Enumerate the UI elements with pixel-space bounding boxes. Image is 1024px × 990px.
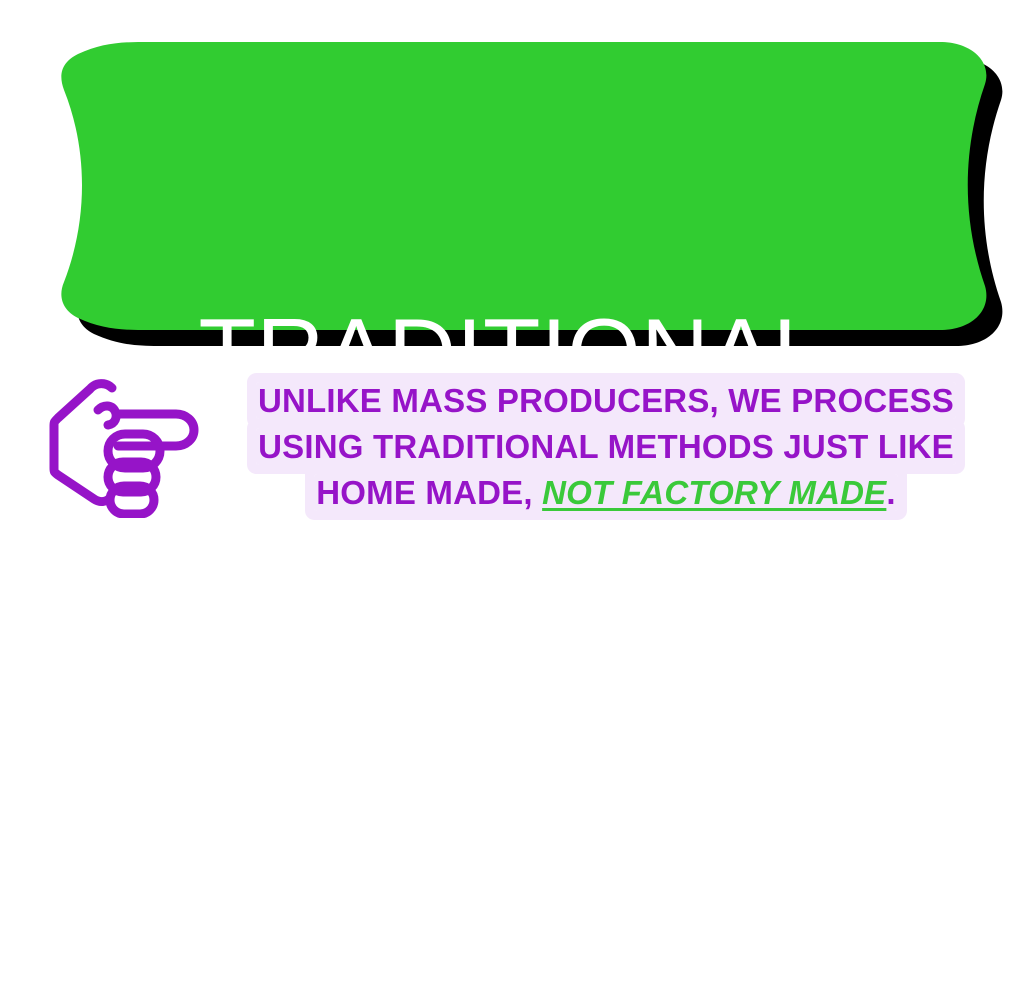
caption-line-3-emphasis: NOT FACTORY MADE [542,474,886,511]
pointing-hand-right-icon [46,368,226,518]
caption-line-2-text: USING TRADITIONAL METHODS JUST LIKE [256,428,956,465]
caption-line-3: HOME MADE, NOT FACTORY MADE. [226,470,986,516]
caption-region: UNLIKE MASS PRODUCERS, WE PROCESS USING … [0,356,1024,576]
banner-title-line-2: PROCESSING [0,642,1024,758]
caption-line-1: UNLIKE MASS PRODUCERS, WE PROCESS [226,378,986,424]
caption-line-2: USING TRADITIONAL METHODS JUST LIKE [226,424,986,470]
slide-canvas: TRADITIONAL PROCESSING UNLIKE [0,0,1024,576]
caption-text: UNLIKE MASS PRODUCERS, WE PROCESS USING … [226,378,986,516]
caption-line-3-text: HOME MADE, NOT FACTORY MADE. [314,474,898,511]
caption-line-1-text: UNLIKE MASS PRODUCERS, WE PROCESS [256,382,956,419]
caption-line-3-prefix: HOME MADE, [316,474,542,511]
caption-line-3-suffix: . [886,474,895,511]
banner-region: TRADITIONAL PROCESSING [0,0,1024,370]
